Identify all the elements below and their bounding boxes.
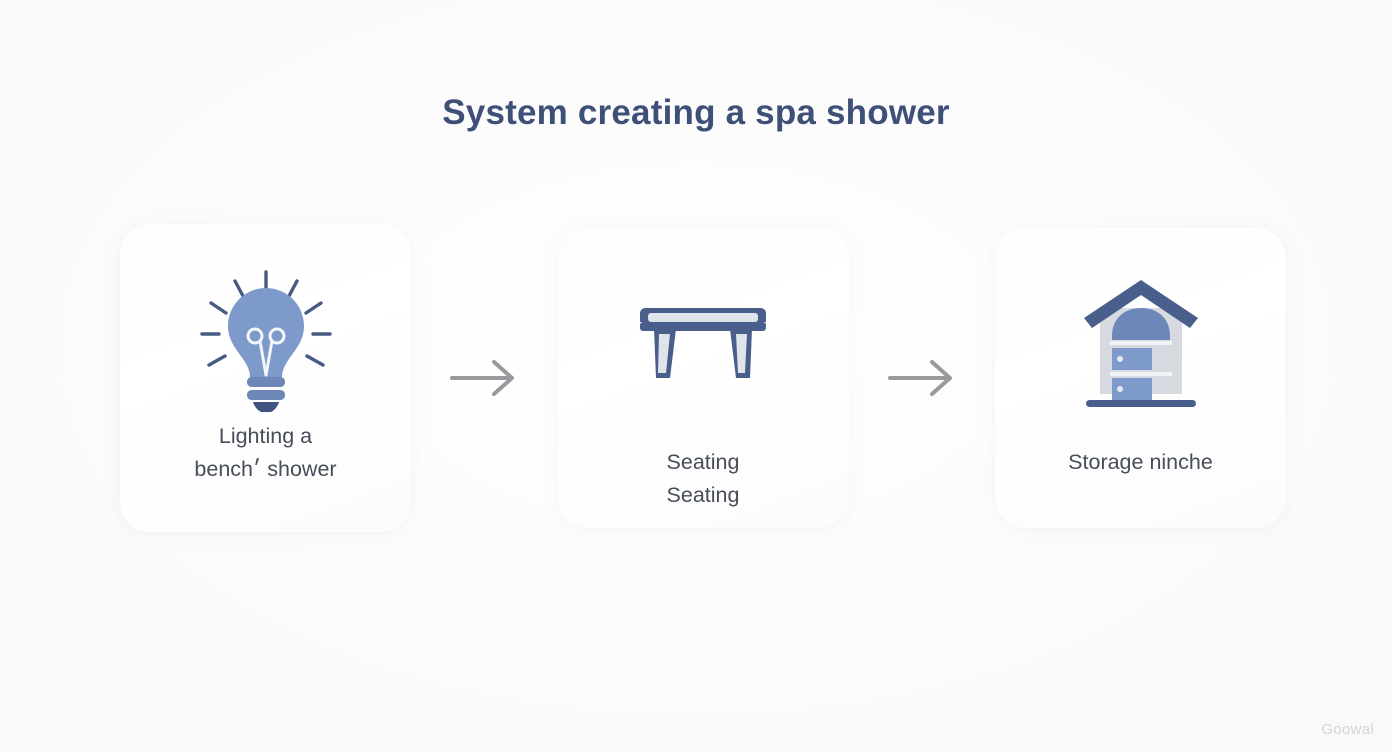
flow-step-label-lighting: Lighting a bench׳ shower: [180, 420, 350, 486]
flow-step-card-storage[interactable]: Storage ninche: [995, 228, 1286, 528]
watermark: Goowal: [1321, 721, 1374, 738]
storage-niche-icon: [1066, 266, 1216, 416]
flow-step-card-seating[interactable]: Seating Seating: [558, 228, 849, 528]
page-title: System creating a spa shower: [0, 93, 1392, 133]
arrow-right-icon: [874, 348, 970, 408]
arrow-right-icon: [436, 348, 532, 408]
lightbulb-icon: [191, 262, 341, 412]
bench-icon: [628, 266, 778, 416]
process-flow: Lighting a bench׳ shower: [120, 224, 1286, 532]
flow-step-label-storage: Storage ninche: [1054, 446, 1227, 479]
flow-step-label-seating: Seating Seating: [653, 446, 754, 512]
flow-step-card-lighting[interactable]: Lighting a bench׳ shower: [120, 224, 411, 532]
